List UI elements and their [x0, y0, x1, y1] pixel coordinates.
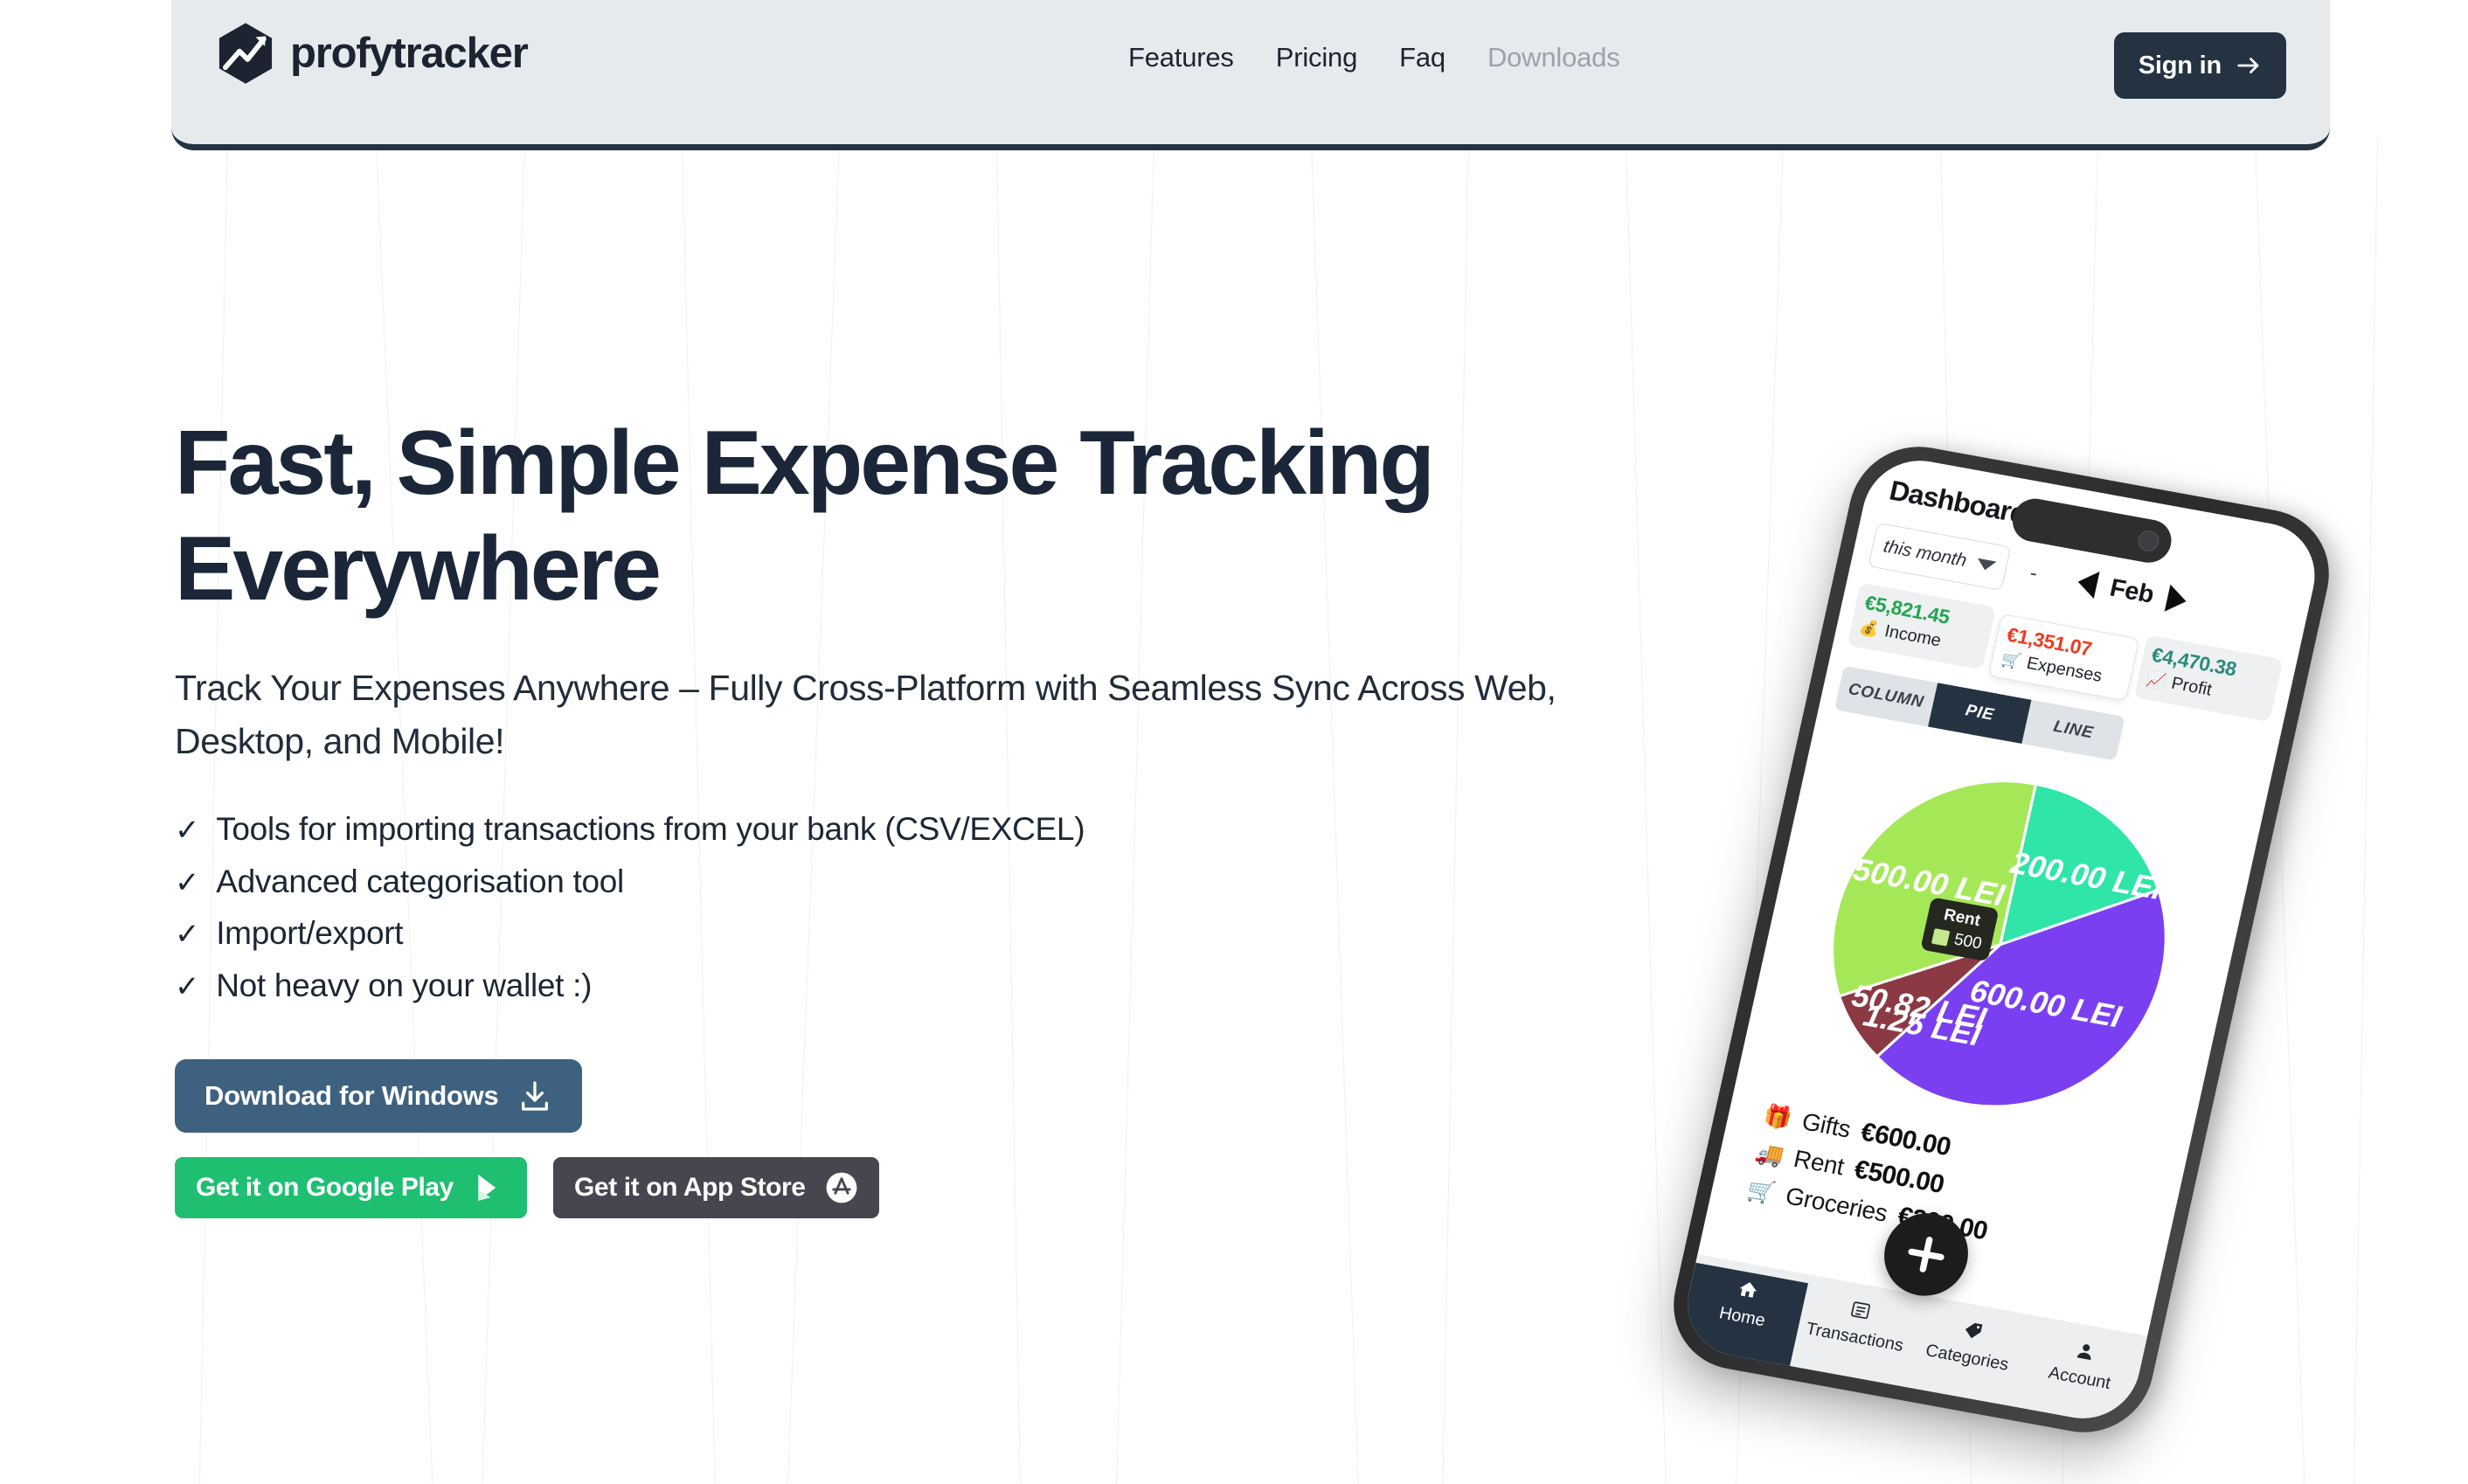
- bottom-nav-transactions-label: Transactions: [1804, 1319, 1905, 1356]
- app-store-button[interactable]: Get it on App Store: [553, 1157, 879, 1218]
- nav-item-pricing[interactable]: Pricing: [1276, 42, 1357, 73]
- legend-name-groceries: Groceries: [1783, 1182, 1890, 1228]
- period-select-value: this month: [1882, 537, 1969, 572]
- feature-text: Not heavy on your wallet :): [216, 960, 592, 1012]
- list-item: ✓ Import/export: [175, 907, 1704, 960]
- sign-in-button[interactable]: Sign in: [2114, 32, 2286, 99]
- site-header: profytracker Features Pricing Faq Downlo…: [171, 0, 2330, 150]
- tab-line[interactable]: LINE: [2021, 700, 2125, 761]
- tab-column[interactable]: COLUMN: [1834, 666, 1938, 727]
- google-play-label: Get it on Google Play: [196, 1173, 454, 1203]
- app-store-icon: [825, 1171, 858, 1204]
- sign-in-label: Sign in: [2139, 52, 2222, 80]
- prev-month-icon[interactable]: [2075, 568, 2099, 599]
- period-select[interactable]: this month: [1868, 523, 2011, 591]
- cart-icon: 🛒: [2000, 650, 2022, 671]
- download-icon: [517, 1078, 552, 1113]
- stat-card-profit[interactable]: €4,470.38 📈 Profit: [2133, 635, 2283, 722]
- phone-mockup: Dashboard this month - Feb €5,8: [1704, 437, 2316, 1442]
- bottom-nav-account[interactable]: Account: [2021, 1324, 2146, 1398]
- profit-label: Profit: [2169, 674, 2213, 701]
- month-navigator: Feb: [2075, 568, 2189, 615]
- chevron-down-icon: [1975, 558, 1996, 572]
- landing-page: profytracker Features Pricing Faq Downlo…: [0, 0, 2468, 1484]
- brand-name: profytracker: [290, 32, 528, 75]
- check-icon: ✓: [175, 868, 199, 898]
- download-windows-button[interactable]: Download for Windows: [175, 1059, 582, 1133]
- stat-card-income[interactable]: €5,821.45 💰 Income: [1847, 583, 1996, 670]
- shopping-cart-icon: 🛒: [1744, 1175, 1778, 1207]
- front-camera-icon: [2136, 529, 2161, 552]
- list-item: ✓ Not heavy on your wallet :): [175, 960, 1704, 1012]
- check-icon: ✓: [175, 972, 199, 1002]
- list-icon: [1848, 1298, 1874, 1326]
- hero-subtitle: Track Your Expenses Anywhere – Fully Cro…: [175, 662, 1695, 767]
- primary-cta-row: Download for Windows: [175, 1059, 1704, 1133]
- bottom-nav-home-label: Home: [1717, 1303, 1767, 1331]
- store-cta-row: Get it on Google Play Get it on App Stor…: [175, 1157, 1704, 1218]
- money-bag-icon: 💰: [1858, 618, 1881, 639]
- feature-text: Tools for importing transactions from yo…: [216, 803, 1085, 856]
- brand-logo[interactable]: profytracker: [213, 21, 528, 86]
- legend-amount-rent: €500.00: [1851, 1155, 1946, 1200]
- check-icon: ✓: [175, 815, 199, 845]
- google-play-icon: [473, 1171, 506, 1204]
- google-play-button[interactable]: Get it on Google Play: [175, 1157, 527, 1218]
- plus-icon: [1899, 1229, 1953, 1280]
- range-separator: -: [2028, 561, 2040, 586]
- tab-pie[interactable]: PIE: [1928, 683, 2031, 744]
- pie-chart: 200.00 LEI 600.00 LEI 50.82 LEI 1.25 LEI…: [1735, 722, 2265, 1167]
- dashboard-title: Dashboard: [1887, 475, 2030, 530]
- main-nav: Features Pricing Faq Downloads: [1128, 42, 1620, 73]
- bottom-nav-categories[interactable]: Categories: [1909, 1304, 2033, 1378]
- bottom-nav-account-label: Account: [2047, 1363, 2112, 1394]
- next-month-icon[interactable]: [2164, 585, 2188, 615]
- home-icon: [1735, 1278, 1761, 1306]
- feature-text: Import/export: [216, 907, 403, 960]
- truck-icon: 🚚: [1753, 1139, 1786, 1170]
- download-windows-label: Download for Windows: [205, 1080, 498, 1112]
- list-item: ✓ Tools for importing transactions from …: [175, 803, 1704, 856]
- legend-amount-gifts: €600.00: [1858, 1118, 1953, 1162]
- nav-item-features[interactable]: Features: [1128, 42, 1234, 73]
- nav-item-downloads[interactable]: Downloads: [1487, 42, 1620, 73]
- chart-up-icon: 📈: [2145, 670, 2167, 691]
- current-month-label: Feb: [2107, 573, 2156, 609]
- nav-item-faq[interactable]: Faq: [1399, 42, 1445, 73]
- legend-name-gifts: Gifts: [1799, 1108, 1854, 1144]
- legend-name-rent: Rent: [1792, 1145, 1847, 1181]
- check-icon: ✓: [175, 919, 199, 949]
- tooltip-value: 500: [1952, 931, 1984, 954]
- app-store-label: Get it on App Store: [574, 1173, 806, 1203]
- page-title: Fast, Simple Expense Tracking Everywhere: [175, 411, 1591, 621]
- pie-chart-svg: 200.00 LEI 600.00 LEI 50.82 LEI 1.25 LEI…: [1792, 745, 2208, 1144]
- gift-icon: 🎁: [1761, 1101, 1794, 1133]
- stat-card-expenses[interactable]: €1,351.07 🛒 Expenses: [1988, 614, 2139, 701]
- tooltip-swatch: [1931, 928, 1950, 947]
- arrow-right-icon: [2236, 52, 2262, 79]
- phone-screen: Dashboard this month - Feb €5,8: [1677, 452, 2325, 1427]
- bottom-nav-transactions[interactable]: Transactions: [1796, 1283, 1920, 1357]
- tag-icon: [1959, 1319, 1986, 1347]
- list-item: ✓ Advanced categorisation tool: [175, 856, 1704, 908]
- hero-section: Fast, Simple Expense Tracking Everywhere…: [175, 411, 1704, 1218]
- logo-hexagon-chart-icon: [213, 21, 278, 86]
- person-icon: [2072, 1339, 2098, 1367]
- bottom-nav-categories-label: Categories: [1924, 1341, 2010, 1375]
- feature-text: Advanced categorisation tool: [216, 856, 624, 908]
- feature-list: ✓ Tools for importing transactions from …: [175, 803, 1704, 1013]
